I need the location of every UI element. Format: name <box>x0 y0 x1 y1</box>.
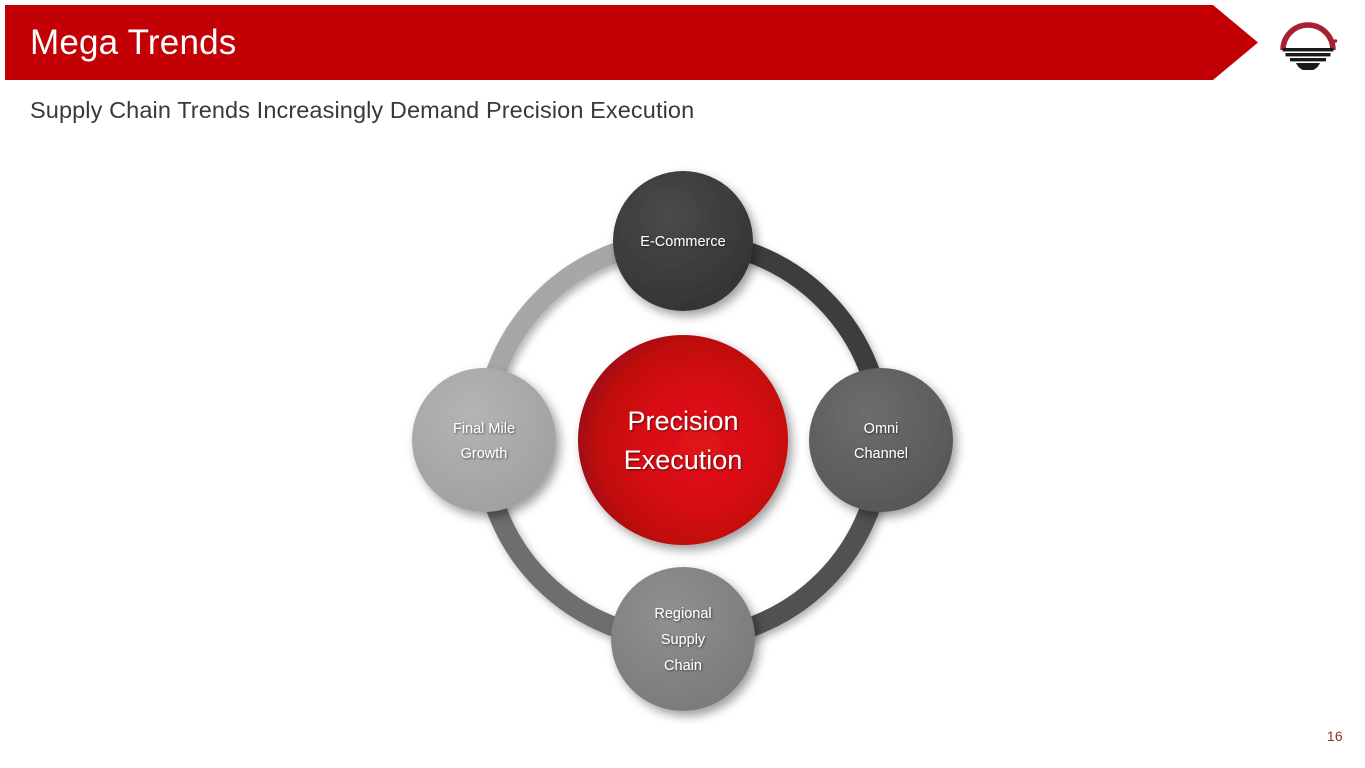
node-omni-channel-label-line-2: Channel <box>854 446 908 462</box>
node-omni-channel[interactable]: Omni Channel <box>809 368 953 512</box>
node-omni-channel-label-line-1: Omni <box>864 421 899 437</box>
center-node-label-line-1: Precision <box>627 406 738 436</box>
node-final-mile-growth[interactable]: Final Mile Growth <box>412 368 556 512</box>
center-node-precision-execution[interactable]: Precision Execution <box>578 335 788 545</box>
node-e-commerce-label: E-Commerce <box>640 234 725 250</box>
node-regional-supply-chain-label-line-2: Supply <box>661 632 706 648</box>
slide-subtitle: Supply Chain Trends Increasingly Demand … <box>30 95 694 125</box>
node-final-mile-growth-label-line-1: Final Mile <box>453 421 515 437</box>
center-node-label-line-2: Execution <box>624 445 743 475</box>
node-regional-supply-chain-label-line-1: Regional <box>654 606 711 622</box>
node-regional-supply-chain-label-line-3: Chain <box>664 658 702 674</box>
page-title: Mega Trends <box>30 22 236 64</box>
logo-arch-icon <box>1283 25 1333 50</box>
node-regional-supply-chain[interactable]: Regional Supply Chain <box>611 567 755 711</box>
logo-stripes-icon <box>1283 48 1334 70</box>
page-number: 16 <box>1327 728 1343 744</box>
header-banner: Mega Trends <box>5 5 1258 80</box>
node-final-mile-growth-label-line-2: Growth <box>461 446 508 462</box>
cycle-diagram: E-Commerce Omni Channel Regional Supply … <box>383 140 983 740</box>
ryder-dome-logo <box>1272 12 1344 70</box>
node-e-commerce[interactable]: E-Commerce <box>613 171 753 311</box>
node-final-mile-growth-circle[interactable] <box>412 368 556 512</box>
center-node-circle[interactable] <box>578 335 788 545</box>
node-omni-channel-circle[interactable] <box>809 368 953 512</box>
logo-registered-mark-icon <box>1334 39 1337 42</box>
